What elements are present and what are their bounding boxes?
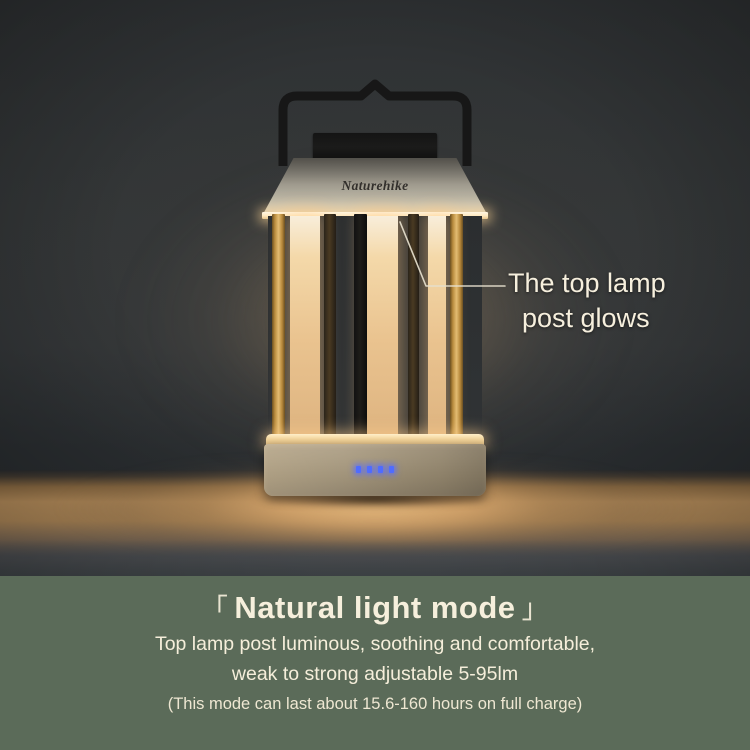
mode-description-line-2: weak to strong adjustable 5-95lm — [0, 659, 750, 689]
info-panel: 「Natural light mode」 Top lamp post lumin… — [0, 576, 750, 750]
callout-line-2: post glows — [508, 301, 738, 336]
bracket-open: 「 — [195, 594, 235, 624]
callout-label: The top lamp post glows — [508, 266, 738, 336]
mode-description-line-1: Top lamp post luminous, soothing and com… — [0, 629, 750, 659]
mode-runtime-note: (This mode can last about 15.6-160 hours… — [0, 691, 750, 717]
mode-heading: 「Natural light mode」 — [0, 588, 750, 629]
product-marketing-image: Naturehike — [0, 0, 750, 750]
mode-heading-text: Natural light mode — [234, 590, 515, 625]
product-photo: Naturehike — [0, 0, 750, 576]
bracket-close: 」 — [516, 594, 556, 624]
callout-line-1: The top lamp — [508, 268, 666, 298]
